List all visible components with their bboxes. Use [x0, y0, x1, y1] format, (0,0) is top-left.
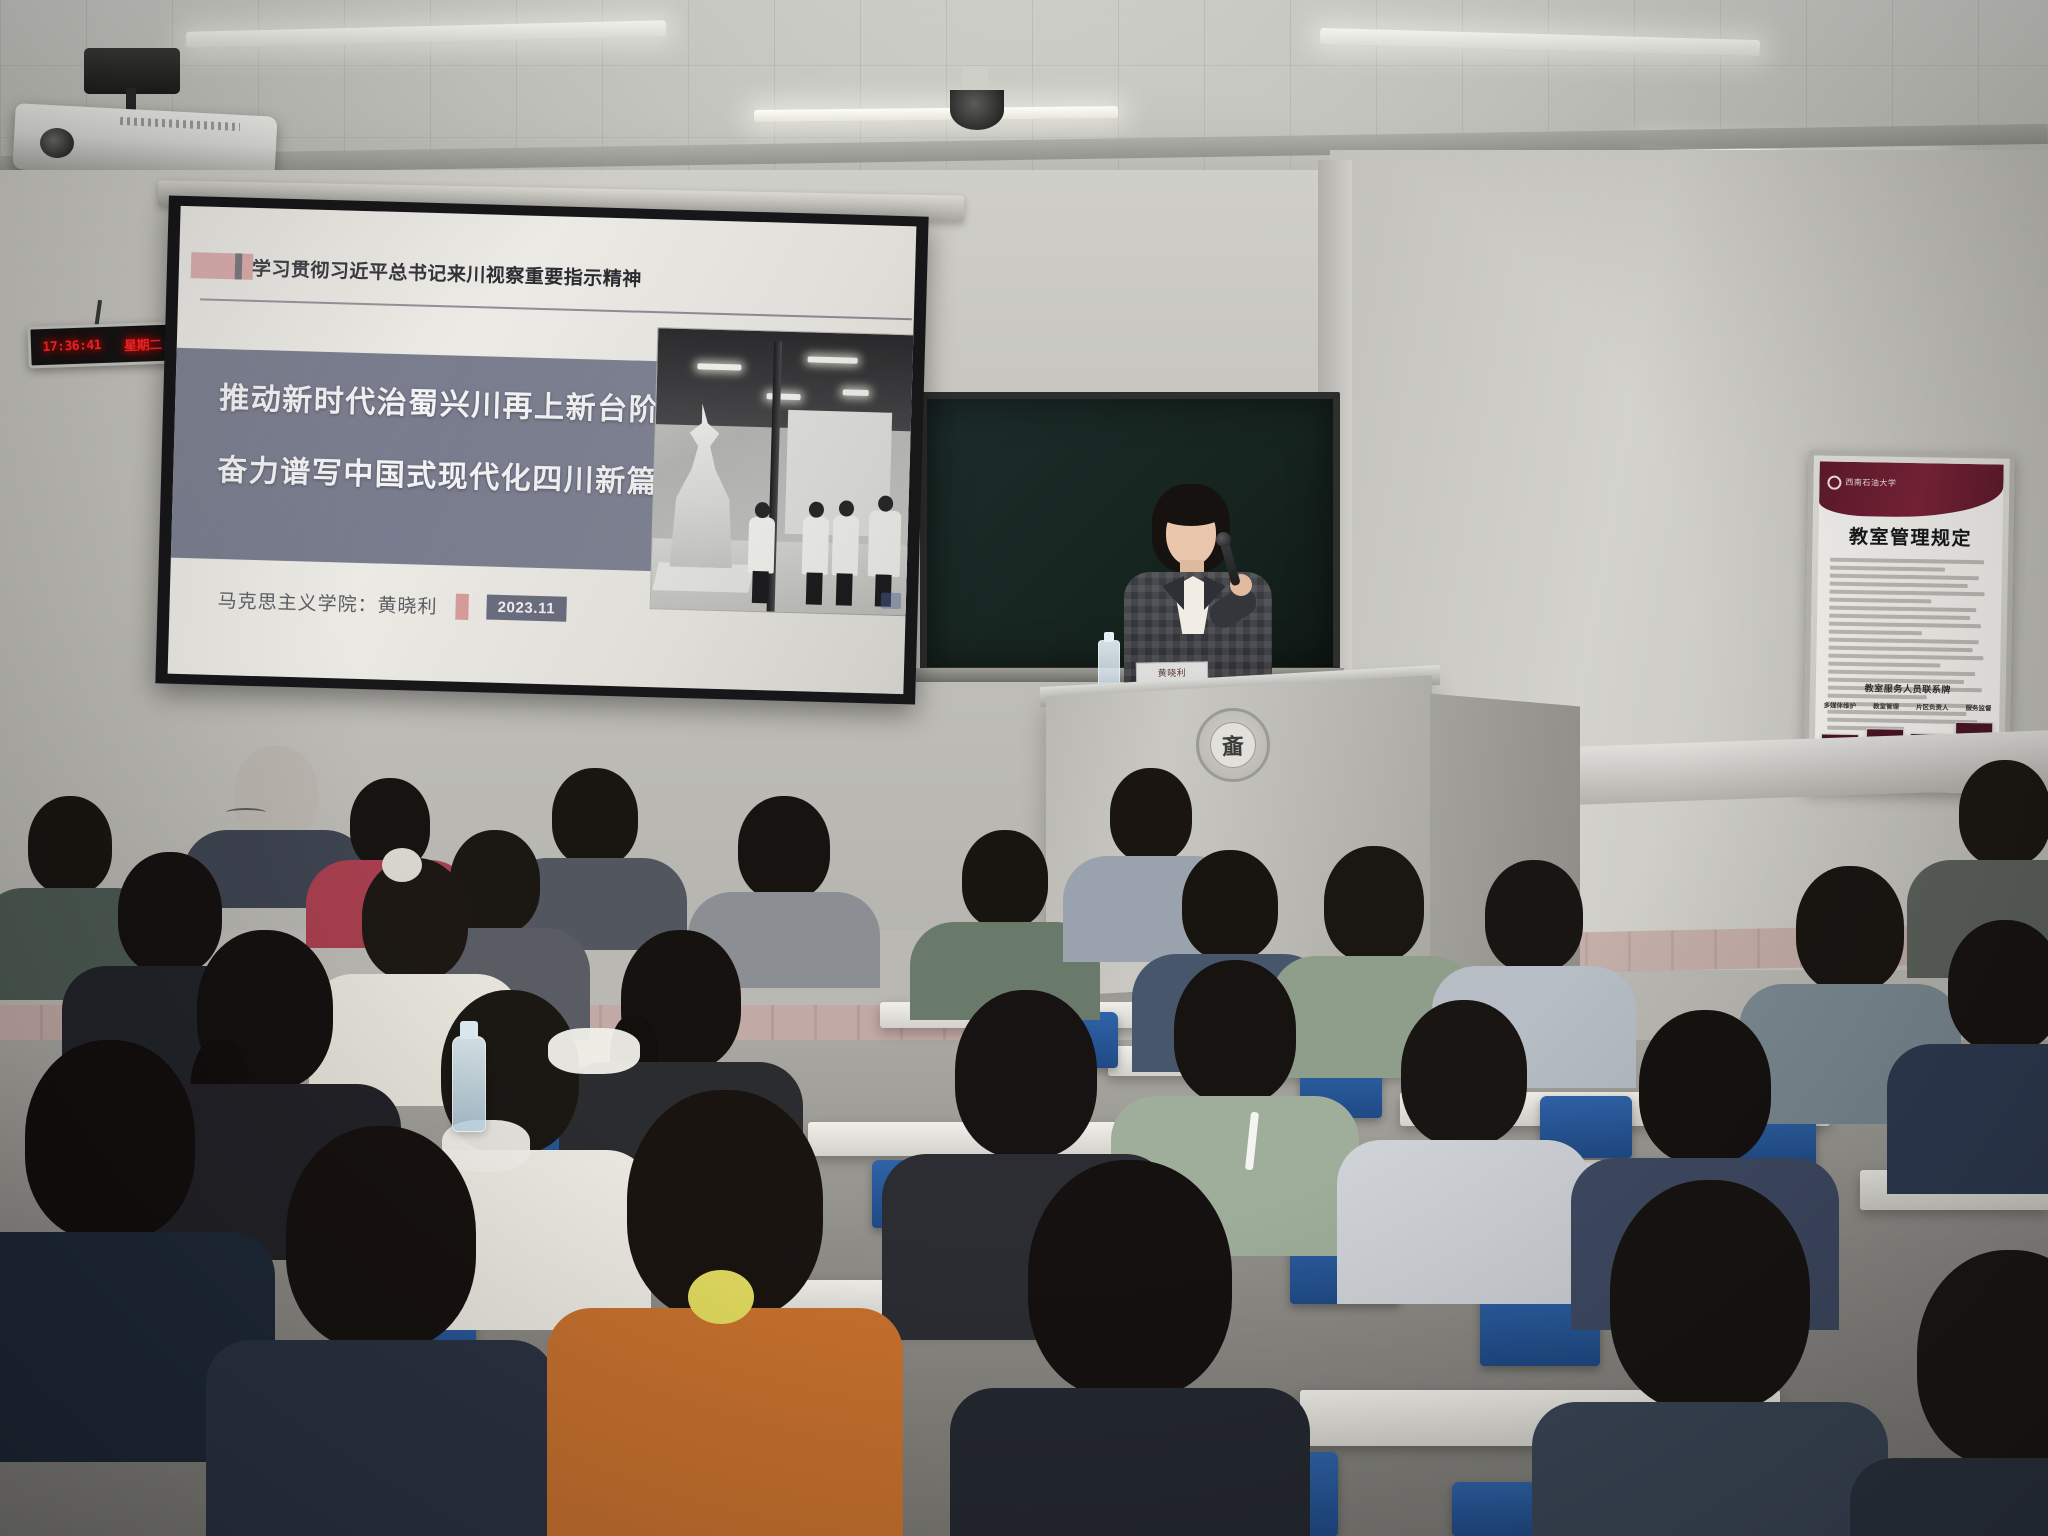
presentation-slide: 学习贯彻习近平总书记来川视察重要指示精神 推动新时代治蜀兴川再上新台阶 奋力谱写… [168, 206, 917, 694]
photo-person-main [868, 510, 902, 577]
hair-accessory [688, 1270, 754, 1324]
photo-person-head [755, 502, 770, 518]
audience-person [1880, 1250, 2048, 1536]
poster-header-band: 西南石油大学 [1819, 461, 2004, 518]
university-logo-icon [1827, 476, 1841, 490]
audience-head [1948, 920, 2048, 1052]
dome-camera-icon [950, 90, 1004, 130]
poster-role: 教室管理 [1873, 700, 1899, 710]
slide-byline-text: 马克思主义学院：黄晓利 [217, 586, 438, 619]
led-time: 17:36:41 [42, 338, 101, 355]
photo-watermark [881, 593, 901, 610]
audience-person [1560, 1180, 1860, 1536]
slide-date-chip: 2023.11 [486, 595, 566, 622]
slide-byline: 马克思主义学院：黄晓利 2023.11 [217, 586, 566, 623]
audience-person [236, 1126, 526, 1536]
audience-head [962, 830, 1048, 928]
lecture-hall-photo: 17:36:41 星期二 学习贯彻习近平总书记来川视察重要指示精神 推动新时代治… [0, 0, 2048, 1536]
led-weekday: 星期二 [124, 333, 162, 353]
byline-accent-block [455, 593, 469, 619]
audience-head [1110, 768, 1192, 862]
poster-role: 片区负责人 [1916, 701, 1949, 712]
poster-role: 服务监督 [1965, 702, 1991, 712]
audience-head [1959, 760, 2048, 866]
crest-inner-ring: 齑 [1209, 721, 1257, 769]
audience-person [580, 1090, 870, 1530]
poster-university-name: 西南石油大学 [1845, 477, 1896, 489]
projection-screen: 学习贯彻习近平总书记来川视察重要指示精神 推动新时代治蜀兴川再上新台阶 奋力谱写… [155, 195, 928, 704]
audience-head [738, 796, 830, 900]
face-mask-on-desk [548, 1028, 640, 1074]
audience-person [0, 1040, 240, 1440]
audience-head [1610, 1180, 1810, 1412]
photo-bronze-artifact [664, 403, 743, 569]
audience-shoulders [950, 1388, 1310, 1536]
slide-photo-inset [650, 327, 916, 616]
audience-shoulders [547, 1308, 903, 1536]
audience-person [1366, 1000, 1562, 1290]
audience-head [955, 990, 1097, 1158]
water-bottle [452, 1036, 486, 1132]
audience-shoulders [1532, 1402, 1888, 1536]
audience-person [930, 830, 1080, 1000]
header-accent-block [191, 252, 254, 280]
audience-head [1401, 1000, 1527, 1146]
audience-head [1028, 1160, 1232, 1398]
audience-shoulders [1887, 1044, 2048, 1194]
audience-person [980, 1160, 1280, 1536]
audience-shoulders [1337, 1140, 1591, 1304]
photo-person-head [878, 495, 893, 511]
poster-title: 教室管理规定 [1818, 521, 2002, 551]
photo-person [832, 515, 860, 576]
header-bar-icon [235, 253, 243, 279]
poster-role: 多媒体维护 [1823, 700, 1856, 711]
slide-header-text: 学习贯彻习近平总书记来川视察重要指示精神 [252, 253, 643, 291]
slide-title-group: 推动新时代治蜀兴川再上新台阶 奋力谱写中国式现代化四川新篇章 [217, 373, 650, 501]
audience-head [1917, 1250, 2048, 1466]
crest-glyph: 齑 [1210, 722, 1256, 768]
audience-shoulders [1850, 1458, 2048, 1536]
audience-head [234, 746, 318, 842]
audience-head [286, 1126, 476, 1350]
slide-header: 学习贯彻习近平总书记来川视察重要指示精神 [178, 242, 915, 309]
photo-lamp [697, 363, 741, 370]
hair-scrunchie [382, 848, 422, 882]
glasses-icon [226, 808, 266, 817]
audience-person [1910, 920, 2048, 1170]
led-clock-display: 17:36:41 星期二 [27, 321, 176, 368]
audience-head [1485, 860, 1583, 972]
audience-head [1174, 960, 1296, 1104]
audience-shoulders [206, 1340, 556, 1536]
photo-lamp [843, 389, 869, 396]
audience-head [1182, 850, 1278, 960]
photo-person [748, 517, 776, 574]
photo-person [802, 516, 830, 575]
audience-head [1324, 846, 1424, 962]
audience-head [1639, 1010, 1771, 1164]
speaker-hair-front [1156, 496, 1226, 526]
audience-head [1796, 866, 1904, 992]
audience-head [25, 1040, 195, 1240]
